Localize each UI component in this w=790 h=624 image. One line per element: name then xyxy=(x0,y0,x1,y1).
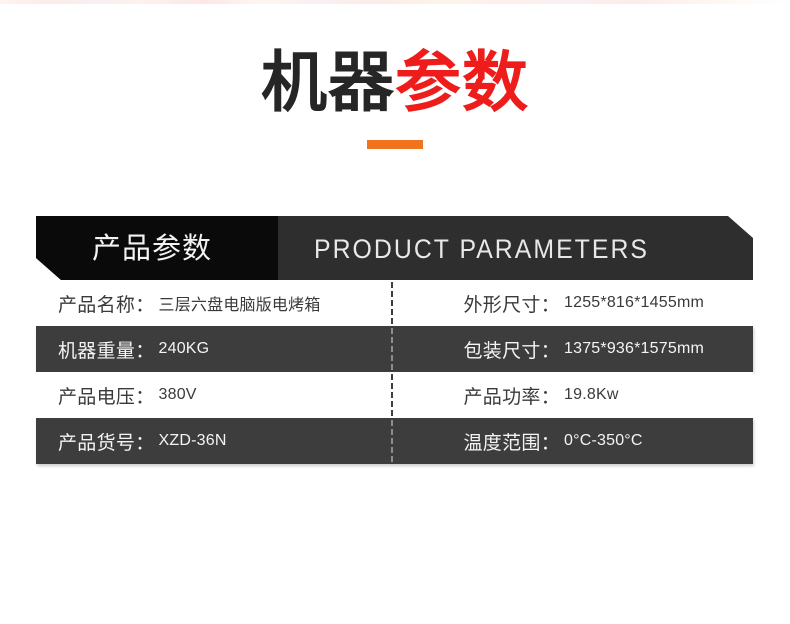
param-value: 三层六盘电脑版电烤箱 xyxy=(159,291,321,315)
row-divider xyxy=(391,282,393,324)
param-label: 产品功率： xyxy=(464,382,561,409)
param-cell-right: 包装尺寸： 1375*936*1575mm xyxy=(395,326,754,372)
param-value: 19.8Kw xyxy=(564,386,619,404)
param-value: 1255*816*1455mm xyxy=(564,294,704,312)
param-label: 机器重量： xyxy=(58,336,155,363)
param-value: 380V xyxy=(159,386,197,404)
param-value: XZD-36N xyxy=(159,432,227,450)
row-divider xyxy=(391,374,393,416)
param-label: 产品货号： xyxy=(58,428,155,455)
header-cn-label: 产品参数 xyxy=(92,216,212,280)
header-en-label: PRODUCT PARAMETERS xyxy=(314,216,649,280)
param-label: 温度范围： xyxy=(464,428,561,455)
title-underline-rule xyxy=(367,140,423,149)
page-title-block: 机器参数 xyxy=(0,44,790,149)
param-cell-right: 温度范围： 0°C-350°C xyxy=(395,418,754,464)
param-label: 外形尺寸： xyxy=(464,290,561,317)
param-cell-left: 产品电压： 380V xyxy=(36,372,395,418)
param-cell-left: 机器重量： 240KG xyxy=(36,326,395,372)
row-divider xyxy=(391,328,393,370)
page-title: 机器参数 xyxy=(0,44,790,122)
param-label: 产品名称： xyxy=(58,290,155,317)
table-row: 产品电压： 380V 产品功率： 19.8Kw xyxy=(36,372,753,418)
table-row: 机器重量： 240KG 包装尺寸： 1375*936*1575mm xyxy=(36,326,753,372)
param-cell-right: 产品功率： 19.8Kw xyxy=(395,372,754,418)
param-value: 0°C-350°C xyxy=(564,432,643,450)
param-value: 1375*936*1575mm xyxy=(564,340,704,358)
row-divider xyxy=(391,420,393,462)
parameters-table: 产品名称： 三层六盘电脑版电烤箱 外形尺寸： 1255*816*1455mm 机… xyxy=(36,280,753,464)
param-cell-right: 外形尺寸： 1255*816*1455mm xyxy=(395,280,754,326)
param-value: 240KG xyxy=(159,340,210,358)
param-label: 产品电压： xyxy=(58,382,155,409)
table-row: 产品名称： 三层六盘电脑版电烤箱 外形尺寸： 1255*816*1455mm xyxy=(36,280,753,326)
table-row: 产品货号： XZD-36N 温度范围： 0°C-350°C xyxy=(36,418,753,464)
page-title-red-part: 参数 xyxy=(395,44,529,121)
param-cell-left: 产品名称： 三层六盘电脑版电烤箱 xyxy=(36,280,395,326)
page-title-dark-part: 机器 xyxy=(261,44,395,121)
top-decorative-strip xyxy=(0,0,790,4)
param-label: 包装尺寸： xyxy=(464,336,561,363)
product-parameters-header: 产品参数 PRODUCT PARAMETERS xyxy=(36,216,753,280)
param-cell-left: 产品货号： XZD-36N xyxy=(36,418,395,464)
